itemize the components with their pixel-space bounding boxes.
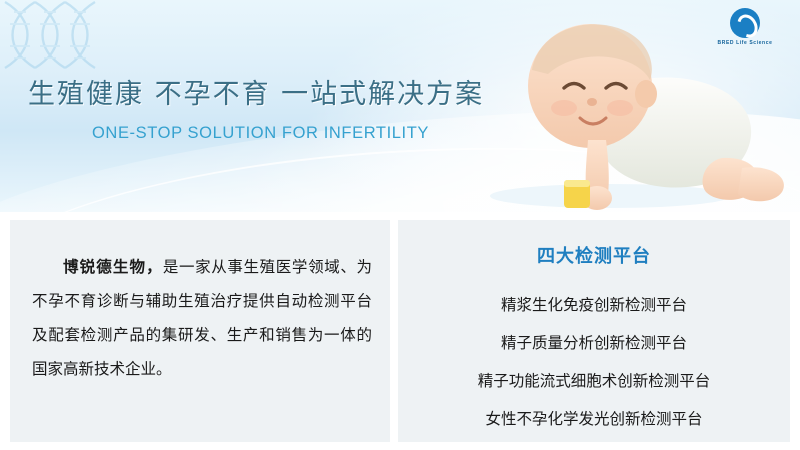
list-item: 精浆生化免疫创新检测平台	[398, 286, 790, 324]
platforms-title: 四大检测平台	[398, 242, 790, 268]
dna-helix-icon	[0, 0, 200, 70]
brand-logo: BRED Life Science	[702, 8, 788, 52]
platforms-panel: 四大检测平台 精浆生化免疫创新检测平台 精子质量分析创新检测平台 精子功能流式细…	[398, 220, 790, 442]
company-intro-text: 博锐德生物，是一家从事生殖医学领域、为不孕不育诊断与辅助生殖治疗提供自动检测平台…	[32, 250, 372, 386]
list-item: 精子功能流式细胞术创新检测平台	[398, 362, 790, 400]
platforms-list: 精浆生化免疫创新检测平台 精子质量分析创新检测平台 精子功能流式细胞术创新检测平…	[398, 286, 790, 438]
brand-swoosh-icon	[730, 8, 760, 38]
company-description: 是一家从事生殖医学领域、为不孕不育诊断与辅助生殖治疗提供自动检测平台及配套检测产…	[32, 258, 372, 378]
brand-logo-text: BRED Life Science	[702, 40, 788, 46]
company-name: 博锐德生物，	[63, 257, 163, 276]
hero-title: 生殖健康 不孕不育 一站式解决方案	[28, 72, 484, 111]
list-item: 女性不孕化学发光创新检测平台	[398, 400, 790, 438]
hero-banner: BRED Life Science 生殖健康 不孕不育 一站式解决方案 ONE-…	[0, 0, 800, 212]
slide-page: BRED Life Science 生殖健康 不孕不育 一站式解决方案 ONE-…	[0, 0, 800, 450]
hero-subtitle: ONE-STOP SOLUTION FOR INFERTILITY	[92, 124, 429, 143]
list-item: 精子质量分析创新检测平台	[398, 324, 790, 362]
content-area: 博锐德生物，是一家从事生殖医学领域、为不孕不育诊断与辅助生殖治疗提供自动检测平台…	[0, 212, 800, 450]
company-intro-panel: 博锐德生物，是一家从事生殖医学领域、为不孕不育诊断与辅助生殖治疗提供自动检测平台…	[10, 220, 392, 442]
